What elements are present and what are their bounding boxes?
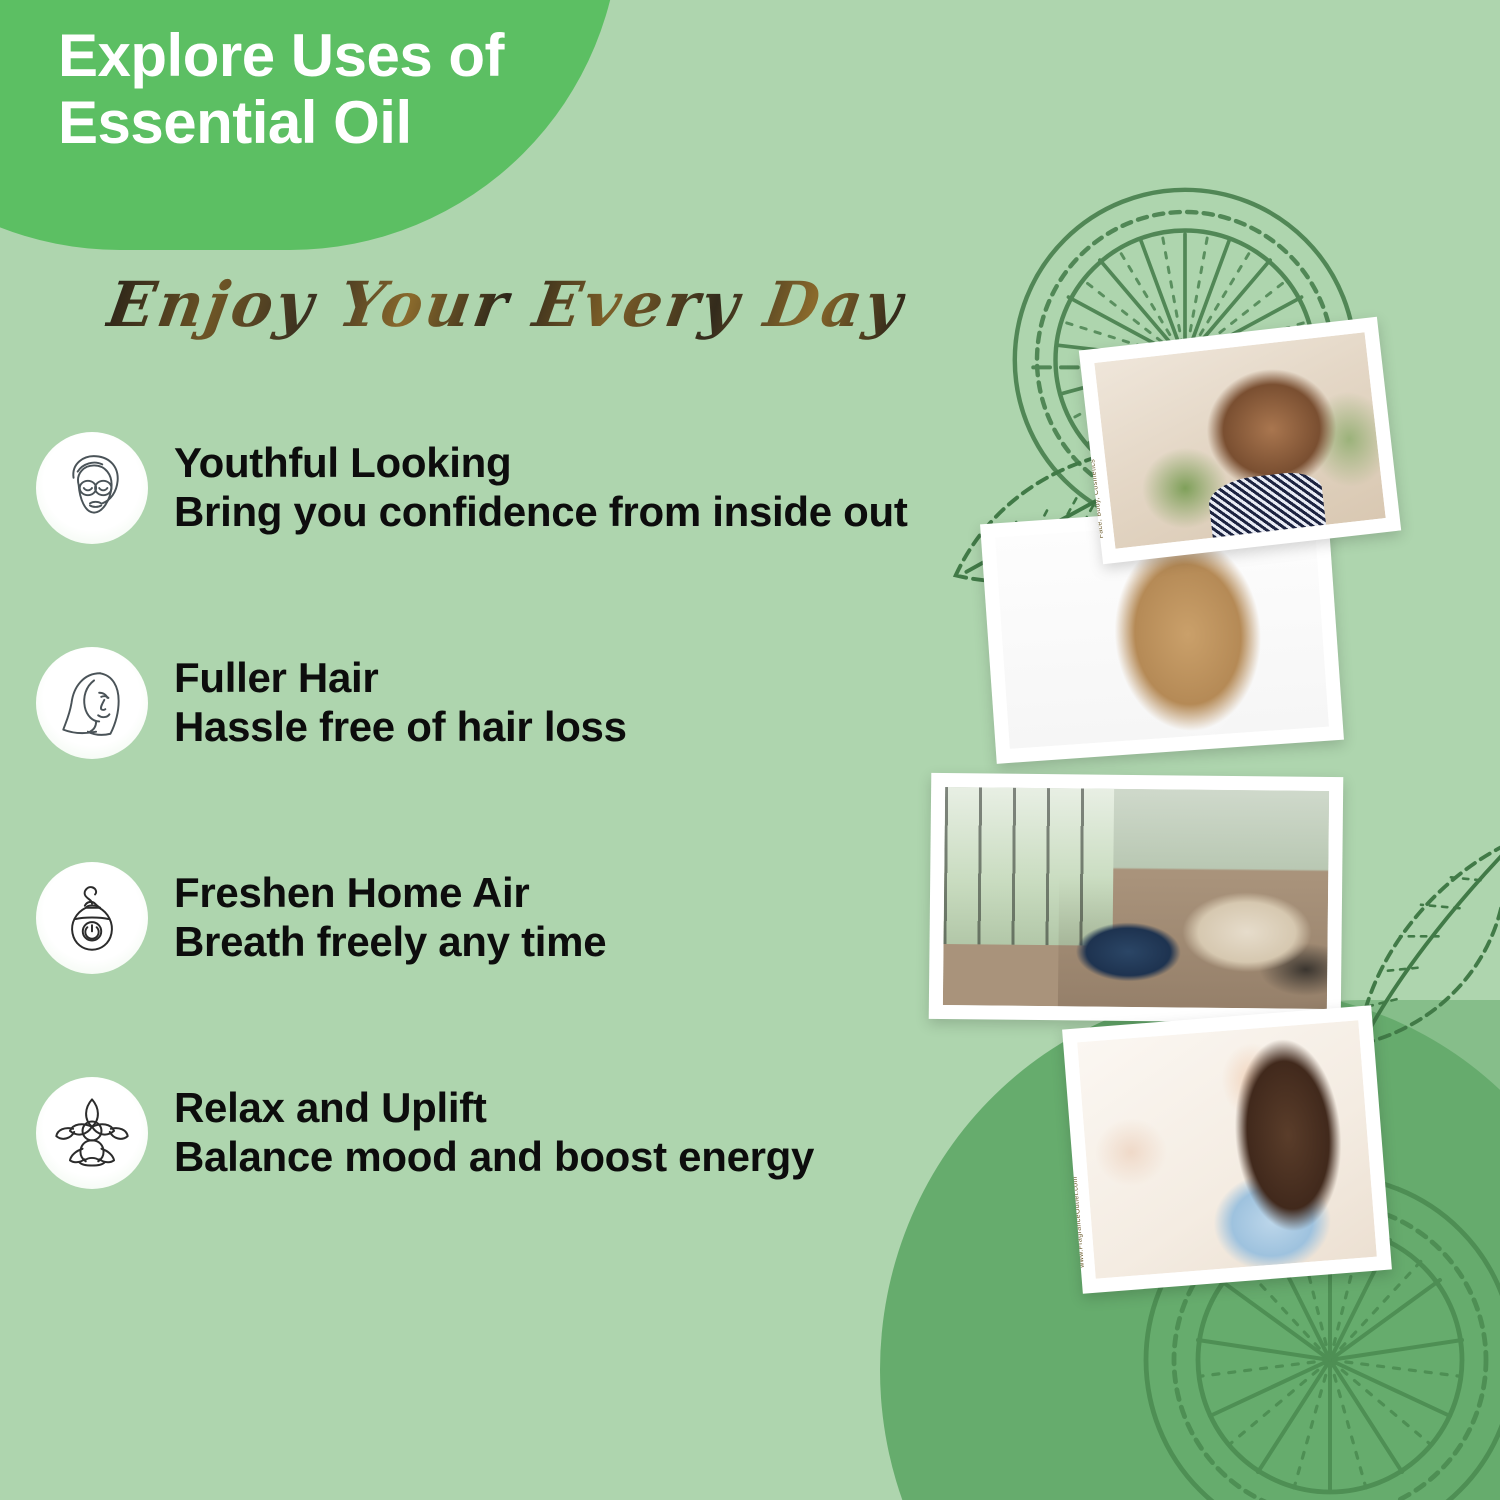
- feature-subtitle: Breath freely any time: [174, 918, 606, 967]
- feature-text-block: Relax and Uplift Balance mood and boost …: [174, 1084, 814, 1181]
- feature-title: Youthful Looking: [174, 439, 908, 488]
- long-hair-profile-icon: [36, 647, 148, 759]
- photo-image: [1077, 1020, 1377, 1278]
- photo-art: [1094, 332, 1385, 549]
- feature-title: Fuller Hair: [174, 654, 627, 703]
- feature-item-fuller-hair: Fuller Hair Hassle free of hair loss: [36, 595, 1056, 810]
- feature-title: Freshen Home Air: [174, 869, 606, 918]
- photo-image: [1094, 332, 1385, 549]
- feature-subtitle: Hassle free of hair loss: [174, 703, 627, 752]
- header-block: Explore Uses of Essential Oil: [58, 22, 678, 156]
- photo-art: [1077, 1020, 1377, 1278]
- face-mask-icon: [36, 432, 148, 544]
- poster-canvas: Explore Uses of Essential Oil Enjoy Your…: [0, 0, 1500, 1500]
- tagline-script: Enjoy Your Every Day: [102, 268, 910, 341]
- feature-subtitle: Bring you confidence from inside out: [174, 488, 908, 537]
- feature-text-block: Freshen Home Air Breath freely any time: [174, 869, 606, 966]
- feature-title: Relax and Uplift: [174, 1084, 814, 1133]
- photo-woman-perfume: www.FragranceOutlet.com: [1062, 1005, 1392, 1294]
- diffuser-icon: [36, 862, 148, 974]
- feature-item-freshen-home-air: Freshen Home Air Breath freely any time: [36, 810, 1056, 1025]
- feature-item-youthful-looking: Youthful Looking Bring you confidence fr…: [36, 380, 1056, 595]
- feature-text-block: Fuller Hair Hassle free of hair loss: [174, 654, 627, 751]
- feature-text-block: Youthful Looking Bring you confidence fr…: [174, 439, 908, 536]
- feature-item-relax-and-uplift: Relax and Uplift Balance mood and boost …: [36, 1025, 1056, 1240]
- feature-subtitle: Balance mood and boost energy: [174, 1133, 814, 1182]
- page-title: Explore Uses of Essential Oil: [58, 22, 678, 156]
- photo-woman-smiling: Face, Body, Cosmetics: [1079, 317, 1401, 565]
- lotus-meditation-icon: [36, 1077, 148, 1189]
- feature-list: Youthful Looking Bring you confidence fr…: [36, 380, 1056, 1240]
